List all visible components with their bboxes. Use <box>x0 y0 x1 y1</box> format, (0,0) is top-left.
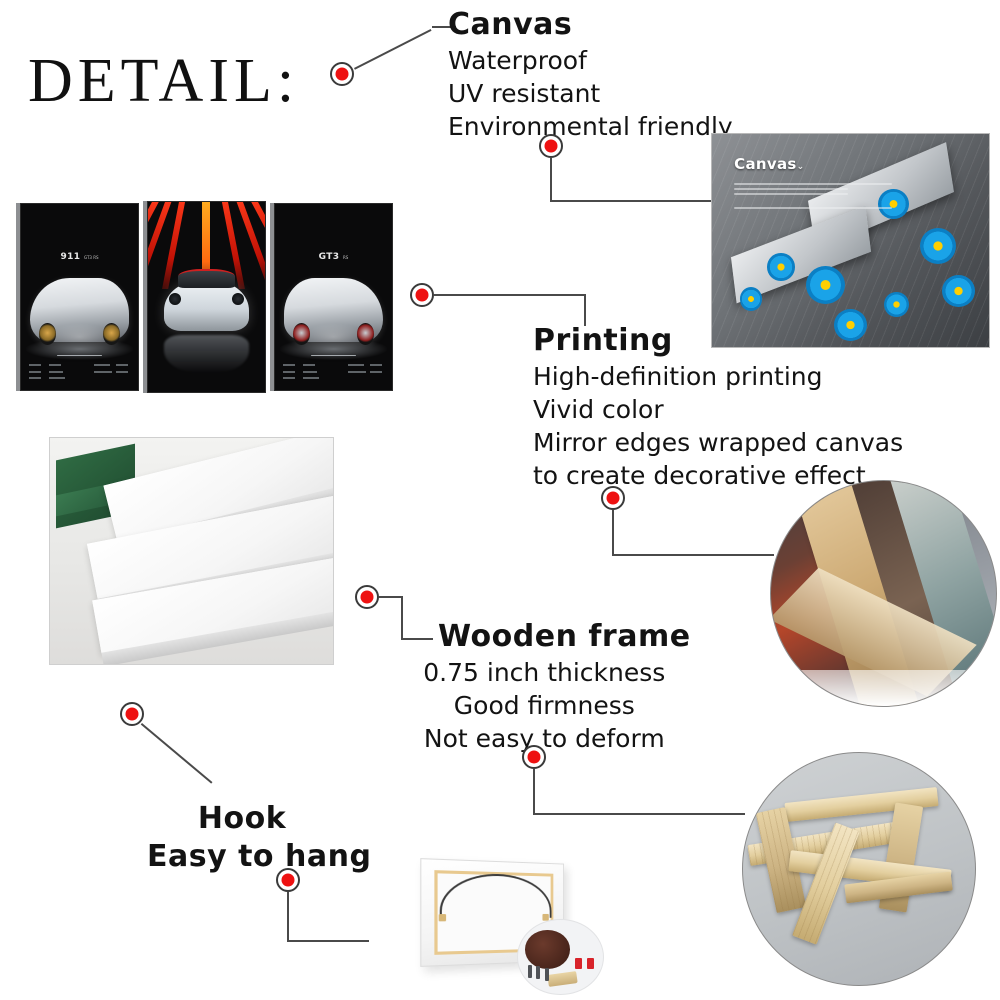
flower-icon <box>884 292 909 318</box>
poster-left-car <box>30 278 128 341</box>
image-blank-canvases <box>49 437 334 665</box>
marker-canvas-image[interactable] <box>539 134 563 158</box>
wheel-icon <box>103 323 120 344</box>
poster-panel-left: 911 GT3 RS <box>20 203 139 391</box>
nail-icon <box>545 968 549 981</box>
headlight-icon <box>169 293 182 306</box>
marker-hook-image[interactable] <box>276 868 300 892</box>
screw-icon <box>587 958 594 969</box>
flower-icon <box>767 253 795 281</box>
image-mirror-edges <box>770 480 997 707</box>
page-title: DETAIL: <box>28 50 299 112</box>
connector-frame-horz-top <box>379 596 403 598</box>
poster-center-car <box>164 282 248 331</box>
connector-mirror-vert <box>612 510 614 556</box>
callout-canvas-line-2: UV resistant <box>448 77 733 110</box>
callout-canvas-line-1: Waterproof <box>448 44 733 77</box>
headlight-icon <box>232 293 245 306</box>
connector-canvas-diagonal <box>354 29 432 70</box>
callout-frame-heading: Wooden frame <box>398 618 691 656</box>
infographic-stage: DETAIL: Canvas Waterproof UV resistant E… <box>0 0 1000 1000</box>
callout-printing-line-1: High-definition printing <box>533 360 903 393</box>
connector-canvas-image-vert <box>550 158 552 202</box>
poster-right-specs <box>283 345 384 377</box>
wire-tab <box>438 914 445 921</box>
callout-wooden-frame: Wooden frame 0.75 inch thickness Good fi… <box>398 618 691 755</box>
callout-canvas-heading: Canvas <box>448 6 733 44</box>
poster-right-car <box>284 278 382 341</box>
flower-icon <box>834 309 867 341</box>
surface-highlight <box>771 670 996 706</box>
marker-printing[interactable] <box>410 283 434 307</box>
image-wooden-bars <box>742 752 976 986</box>
wood-piece <box>548 971 578 987</box>
callout-printing-line-3: Mirror edges wrapped canvas <box>533 426 903 459</box>
poster-left-specs <box>29 345 130 377</box>
connector-hook-diagonal <box>141 723 213 784</box>
connector-wood-vert <box>533 769 535 815</box>
wheel-icon <box>357 323 374 344</box>
poster-left-title: 911 GT3 RS <box>60 252 98 262</box>
callout-hook-heading: Hook <box>147 800 337 838</box>
flower-icon <box>806 266 845 304</box>
callout-canvas: Canvas Waterproof UV resistant Environme… <box>448 6 733 143</box>
hardware-inset <box>517 919 604 995</box>
connector-hook-horz <box>287 940 369 942</box>
poster-panel-right: GT3 RS <box>274 203 393 391</box>
marker-hook[interactable] <box>120 702 144 726</box>
marker-wood-circle[interactable] <box>522 745 546 769</box>
image-hook-back <box>404 856 589 976</box>
poster-center-reflection <box>164 335 248 373</box>
canvas-image-caption <box>734 183 906 212</box>
connector-hook-vert <box>287 892 289 942</box>
flower-icon <box>740 287 762 310</box>
connector-mirror-horz <box>612 554 774 556</box>
wheel-icon <box>39 323 56 344</box>
nail-icon <box>536 966 540 979</box>
poster-panel-center <box>147 201 266 393</box>
connector-wood-horz <box>533 813 745 815</box>
screw-icon <box>575 958 582 969</box>
flower-icon <box>942 275 975 307</box>
chevron-down-icon: ⌄ <box>797 162 805 172</box>
connector-canvas-image-horz <box>550 200 712 202</box>
flower-icon <box>920 228 956 264</box>
callout-hook-line-1: Easy to hang <box>147 838 337 876</box>
callout-canvas-line-3: Environmental friendly <box>448 110 733 143</box>
callout-printing-line-2: Vivid color <box>533 393 903 426</box>
nail-icon <box>528 965 532 978</box>
callout-frame-line-2: Good firmness <box>398 689 691 722</box>
poster-right-title: GT3 RS <box>319 252 349 262</box>
hook-disc-icon <box>525 930 569 969</box>
callout-hook: Hook Easy to hang <box>147 800 337 876</box>
image-car-posters: 911 GT3 RS <box>16 203 382 389</box>
image-canvas-flowers: Canvas⌄ <box>711 133 990 348</box>
canvas-image-label: Canvas⌄ <box>734 155 804 173</box>
marker-mirror-edges[interactable] <box>601 486 625 510</box>
callout-frame-line-1: 0.75 inch thickness <box>398 656 691 689</box>
marker-canvas[interactable] <box>330 62 354 86</box>
marker-wooden-frame[interactable] <box>355 585 379 609</box>
wheel-icon <box>293 323 310 344</box>
connector-printing-horz <box>434 294 586 296</box>
